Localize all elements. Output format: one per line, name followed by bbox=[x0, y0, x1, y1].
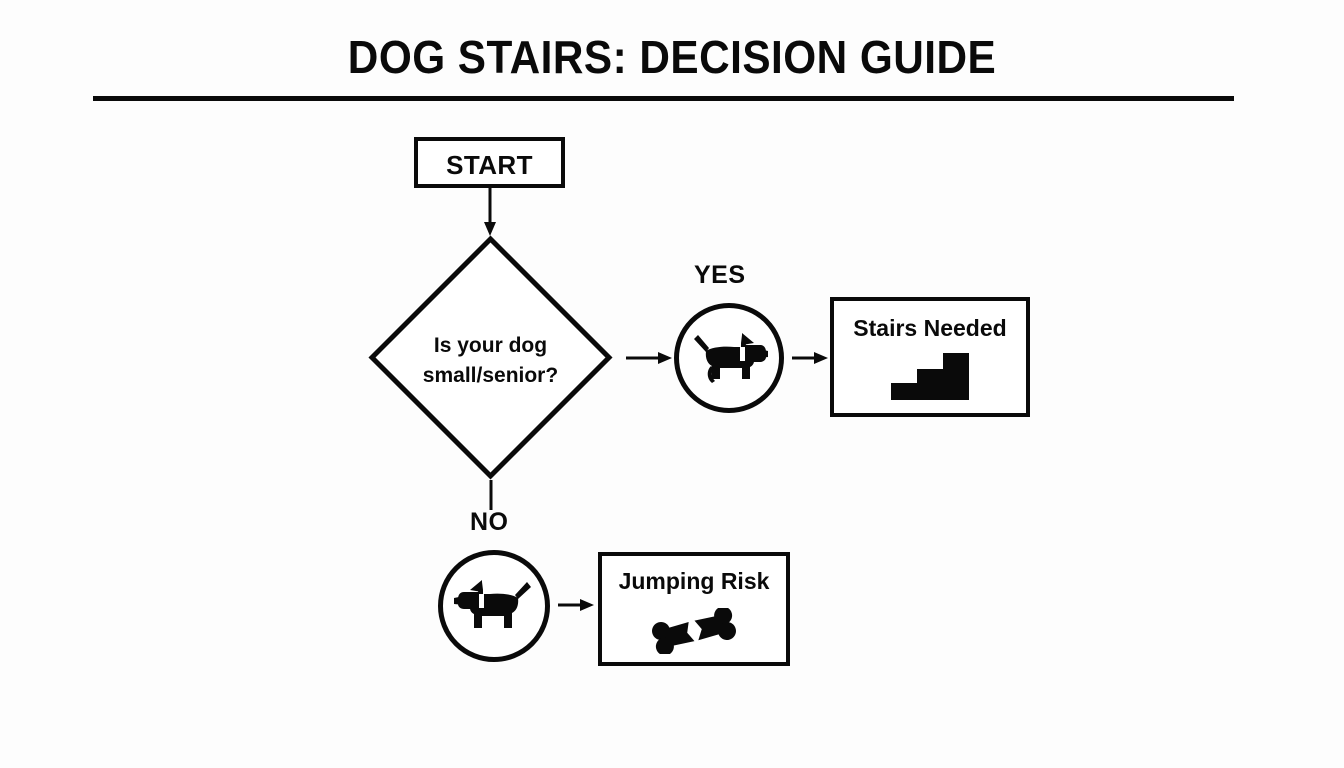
decision-text-line-1: Is your dog bbox=[386, 331, 595, 361]
decision-node[interactable]: Is your dog small/senior? bbox=[368, 235, 613, 480]
dog-icon bbox=[690, 327, 768, 389]
connector-decision-to-yes bbox=[624, 344, 674, 372]
bone-icon-container bbox=[602, 608, 786, 654]
decision-text-line-2: small/senior? bbox=[386, 361, 595, 391]
staircase-icon bbox=[891, 353, 969, 400]
outcome-stairs-needed[interactable]: Stairs Needed bbox=[830, 297, 1030, 417]
branch-label-no: NO bbox=[470, 508, 509, 537]
broken-bone-icon bbox=[651, 608, 737, 654]
title-divider bbox=[93, 96, 1234, 101]
yes-dog-node[interactable] bbox=[674, 303, 784, 413]
connector-no-to-jumping bbox=[556, 591, 596, 619]
branch-label-yes: YES bbox=[694, 261, 746, 290]
diagram-canvas: DOG STAIRS: DECISION GUIDE START Is your… bbox=[0, 0, 1344, 768]
start-node-label: START bbox=[418, 150, 561, 181]
outcome-stairs-label: Stairs Needed bbox=[834, 315, 1026, 342]
outcome-jumping-label: Jumping Risk bbox=[602, 568, 786, 595]
outcome-jumping-risk[interactable]: Jumping Risk bbox=[598, 552, 790, 666]
connector-start-to-decision bbox=[474, 188, 506, 238]
decision-node-text: Is your dog small/senior? bbox=[386, 331, 595, 391]
stairs-icon-container bbox=[834, 353, 1026, 400]
page-title: DOG STAIRS: DECISION GUIDE bbox=[54, 30, 1290, 84]
dog-icon bbox=[454, 574, 534, 638]
no-dog-node[interactable] bbox=[438, 550, 550, 662]
connector-yes-to-stairs bbox=[790, 344, 830, 372]
start-node[interactable]: START bbox=[414, 137, 565, 188]
